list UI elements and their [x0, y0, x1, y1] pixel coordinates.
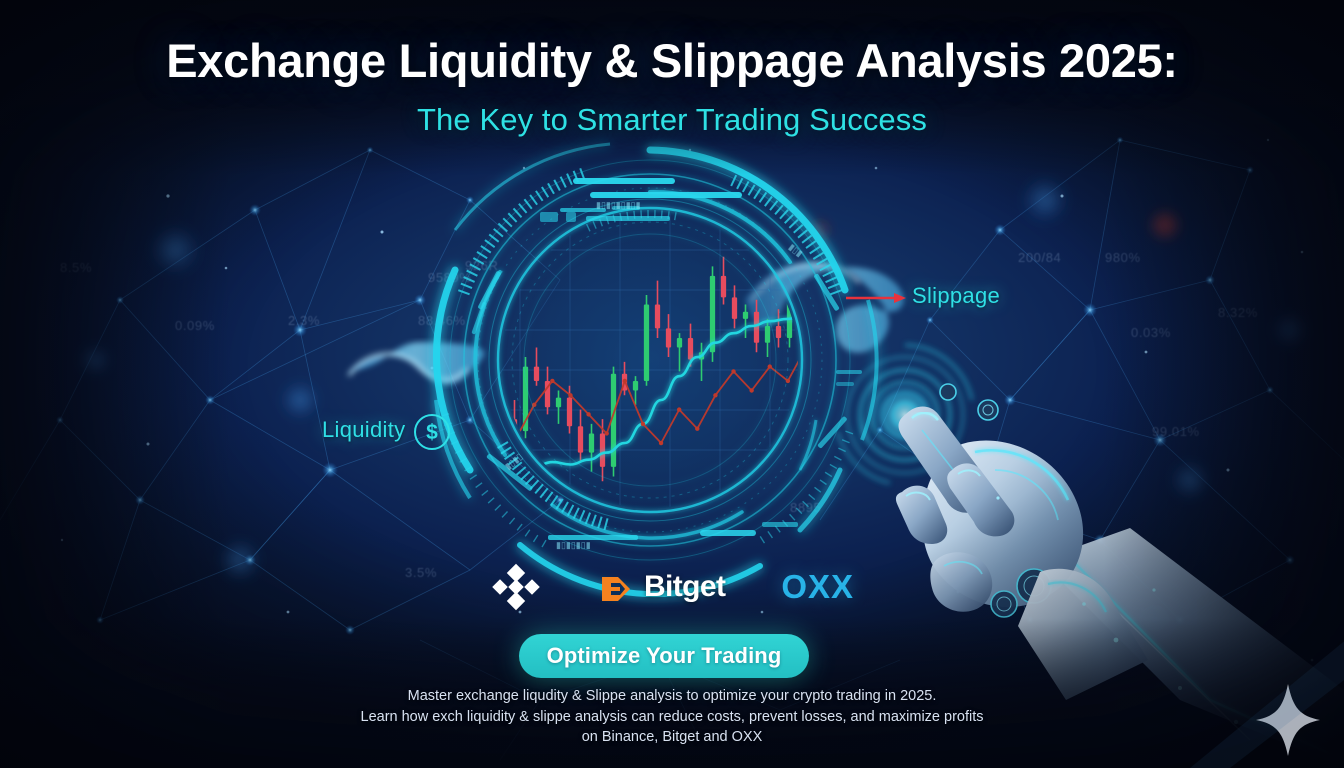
binance-logo[interactable] [490, 561, 542, 613]
optimize-your-trading-button[interactable]: Optimize Your Trading [519, 634, 809, 678]
bitget-wordmark: Bitget [644, 570, 725, 604]
caption-line-3: on Binance, Bitget and OXX [0, 727, 1344, 748]
hero-banner: 926R9589%88.46%2.3%0.09%8.5%200/84980%8.… [0, 0, 1344, 768]
bitget-icon [598, 569, 634, 605]
dollar-circle-icon: $ [412, 412, 452, 452]
svg-text:$: $ [426, 421, 438, 444]
liquidity-label-text: Liquidity [322, 417, 405, 442]
caption-line-1: Master exchange liqudity & Slippe analys… [0, 686, 1344, 707]
slippage-label-text: Slippage [912, 283, 1000, 308]
slippage-annotation: Slippage [912, 283, 1000, 309]
oxx-logo[interactable]: OXX [781, 568, 854, 606]
caption-line-2: Learn how exch liquidity & slippe analys… [0, 707, 1344, 728]
red-arrow-right-icon [846, 293, 906, 303]
corner-light-streak [1190, 620, 1344, 768]
exchange-logos-row: Bitget OXX [0, 557, 1344, 617]
page-title: Exchange Liquidity & Slippage Analysis 2… [0, 33, 1344, 88]
bitget-logo[interactable]: Bitget [598, 569, 725, 605]
oxx-wordmark: OXX [781, 568, 854, 606]
page-subtitle: The Key to Smarter Trading Success [0, 102, 1344, 138]
binance-diamond-icon [490, 561, 542, 613]
caption-block: Master exchange liqudity & Slippe analys… [0, 686, 1344, 748]
liquidity-annotation: Liquidity [322, 417, 405, 443]
